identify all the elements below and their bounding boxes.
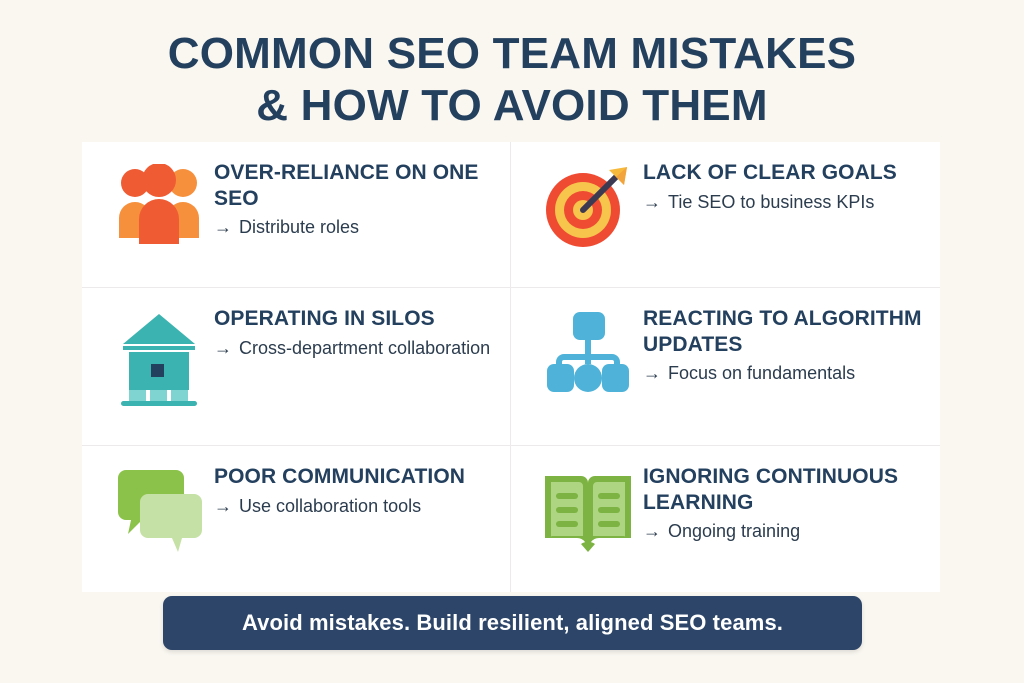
cell-title: OVER-RELIANCE ON ONE SEO: [214, 160, 496, 211]
target-arrow-icon: [533, 158, 643, 250]
arrow-right-icon: →: [643, 520, 661, 543]
people-group-icon: [104, 158, 214, 244]
speech-bubbles-icon: [104, 462, 214, 554]
silo-building-icon: [104, 304, 214, 406]
grid-cell-over-reliance: OVER-RELIANCE ON ONE SEO → Distribute ro…: [82, 142, 511, 288]
cell-title: LACK OF CLEAR GOALS: [643, 160, 926, 186]
cell-sub-label: Cross-department collaboration: [239, 337, 490, 360]
arrow-right-icon: →: [214, 216, 232, 239]
title-line-1: COMMON SEO TEAM MISTAKES: [0, 28, 1024, 80]
grid-cell-algorithm-updates: REACTING TO ALGORITHM UPDATES → Focus on…: [511, 288, 940, 446]
cell-text-block: IGNORING CONTINUOUS LEARNING → Ongoing t…: [643, 462, 926, 544]
cell-sub-label: Focus on fundamentals: [668, 362, 855, 385]
takeaway-banner: Avoid mistakes. Build resilient, aligned…: [163, 596, 862, 650]
cell-title: POOR COMMUNICATION: [214, 464, 496, 490]
cell-text-block: REACTING TO ALGORITHM UPDATES → Focus on…: [643, 304, 926, 386]
arrow-right-icon: →: [643, 362, 661, 385]
org-chart-icon: [533, 304, 643, 394]
cell-sub-label: Use collaboration tools: [239, 495, 421, 518]
cell-text-block: OPERATING IN SILOS → Cross-department co…: [214, 304, 496, 360]
cell-title: IGNORING CONTINUOUS LEARNING: [643, 464, 926, 515]
cell-text-block: LACK OF CLEAR GOALS → Tie SEO to busines…: [643, 158, 926, 214]
arrow-right-icon: →: [214, 495, 232, 518]
cell-title: REACTING TO ALGORITHM UPDATES: [643, 306, 926, 357]
grid-cell-poor-communication: POOR COMMUNICATION → Use collaboration t…: [82, 446, 511, 592]
cell-text-block: POOR COMMUNICATION → Use collaboration t…: [214, 462, 496, 518]
grid-cell-operating-silos: OPERATING IN SILOS → Cross-department co…: [82, 288, 511, 446]
cell-subtext: → Cross-department collaboration: [214, 337, 496, 360]
cell-sub-label: Distribute roles: [239, 216, 359, 239]
cell-sub-label: Ongoing training: [668, 520, 800, 543]
banner-text: Avoid mistakes. Build resilient, aligned…: [242, 610, 783, 636]
mistakes-grid: OVER-RELIANCE ON ONE SEO → Distribute ro…: [82, 142, 940, 592]
cell-subtext: → Use collaboration tools: [214, 495, 496, 518]
cell-subtext: → Focus on fundamentals: [643, 362, 926, 385]
grid-cell-continuous-learning: IGNORING CONTINUOUS LEARNING → Ongoing t…: [511, 446, 940, 592]
page-title: COMMON SEO TEAM MISTAKES & HOW TO AVOID …: [0, 28, 1024, 132]
cell-subtext: → Tie SEO to business KPIs: [643, 191, 926, 214]
cell-subtext: → Distribute roles: [214, 216, 496, 239]
cell-text-block: OVER-RELIANCE ON ONE SEO → Distribute ro…: [214, 158, 496, 240]
cell-title: OPERATING IN SILOS: [214, 306, 496, 332]
grid-cell-clear-goals: LACK OF CLEAR GOALS → Tie SEO to busines…: [511, 142, 940, 288]
arrow-right-icon: →: [643, 191, 661, 214]
title-line-2: & HOW TO AVOID THEM: [0, 80, 1024, 132]
arrow-right-icon: →: [214, 337, 232, 360]
cell-sub-label: Tie SEO to business KPIs: [668, 191, 874, 214]
open-book-icon: [533, 462, 643, 554]
cell-subtext: → Ongoing training: [643, 520, 926, 543]
infographic-page: COMMON SEO TEAM MISTAKES & HOW TO AVOID …: [0, 0, 1024, 683]
